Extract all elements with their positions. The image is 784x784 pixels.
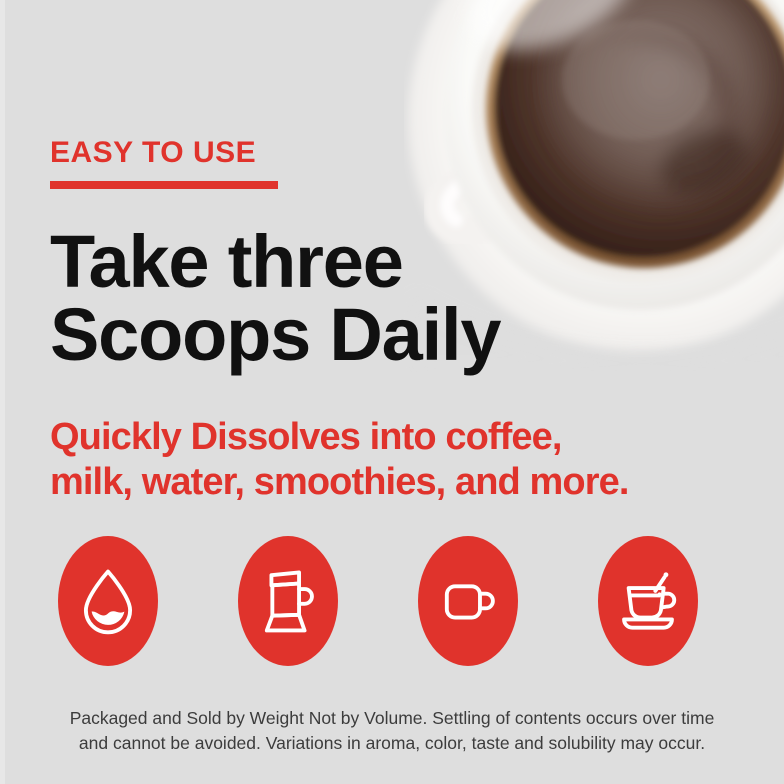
coffee-mug-icon bbox=[437, 566, 499, 636]
icon-badge-water-drop bbox=[58, 536, 158, 666]
left-edge-strip bbox=[0, 0, 5, 784]
headline-line-1: Take three bbox=[50, 226, 500, 299]
teacup-saucer-icon bbox=[617, 566, 679, 636]
footer-disclaimer: Packaged and Sold by Weight Not by Volum… bbox=[0, 706, 784, 756]
subheadline: Quickly Dissolves into coffee, milk, wat… bbox=[50, 415, 629, 505]
icon-row bbox=[58, 535, 728, 667]
headline-line-2: Scoops Daily bbox=[50, 299, 500, 372]
product-infographic-poster: EASY TO USE Take three Scoops Daily Quic… bbox=[0, 0, 784, 784]
page-title: Take three Scoops Daily bbox=[50, 226, 500, 371]
eyebrow-underline bbox=[50, 181, 278, 189]
water-drop-icon bbox=[77, 566, 139, 636]
footer-line-1: Packaged and Sold by Weight Not by Volum… bbox=[40, 706, 744, 731]
subheadline-line-2: milk, water, smoothies, and more. bbox=[50, 460, 629, 505]
footer-line-2: and cannot be avoided. Variations in aro… bbox=[40, 731, 744, 756]
icon-badge-french-press bbox=[238, 536, 338, 666]
french-press-icon bbox=[257, 566, 319, 636]
eyebrow-label: EASY TO USE bbox=[50, 138, 278, 168]
subheadline-line-1: Quickly Dissolves into coffee, bbox=[50, 415, 629, 460]
eyebrow-block: EASY TO USE bbox=[50, 138, 278, 189]
icon-badge-coffee-mug bbox=[418, 536, 518, 666]
icon-badge-teacup-saucer bbox=[598, 536, 698, 666]
